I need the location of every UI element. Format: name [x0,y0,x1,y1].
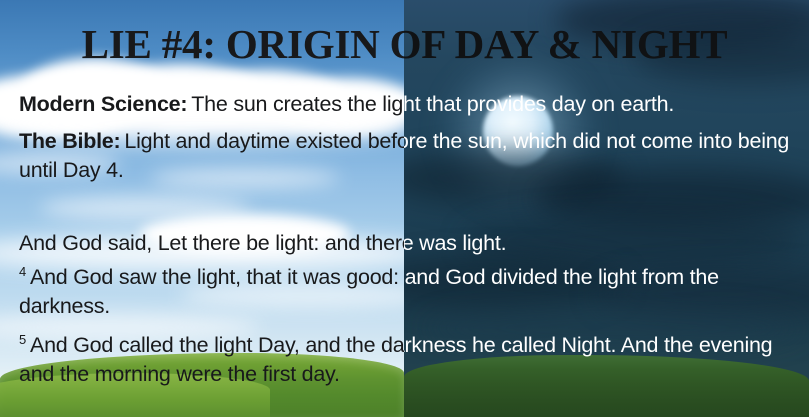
slide-canvas: LIE #4: ORIGIN OF DAY & NIGHT Modern Sci… [0,0,809,417]
claim-label-modern-science: Modern Science: [19,92,187,116]
verse-number-4: 4 [19,264,26,279]
claim-label-the-bible: The Bible: [19,129,120,153]
verse-number-5: 5 [19,332,26,347]
